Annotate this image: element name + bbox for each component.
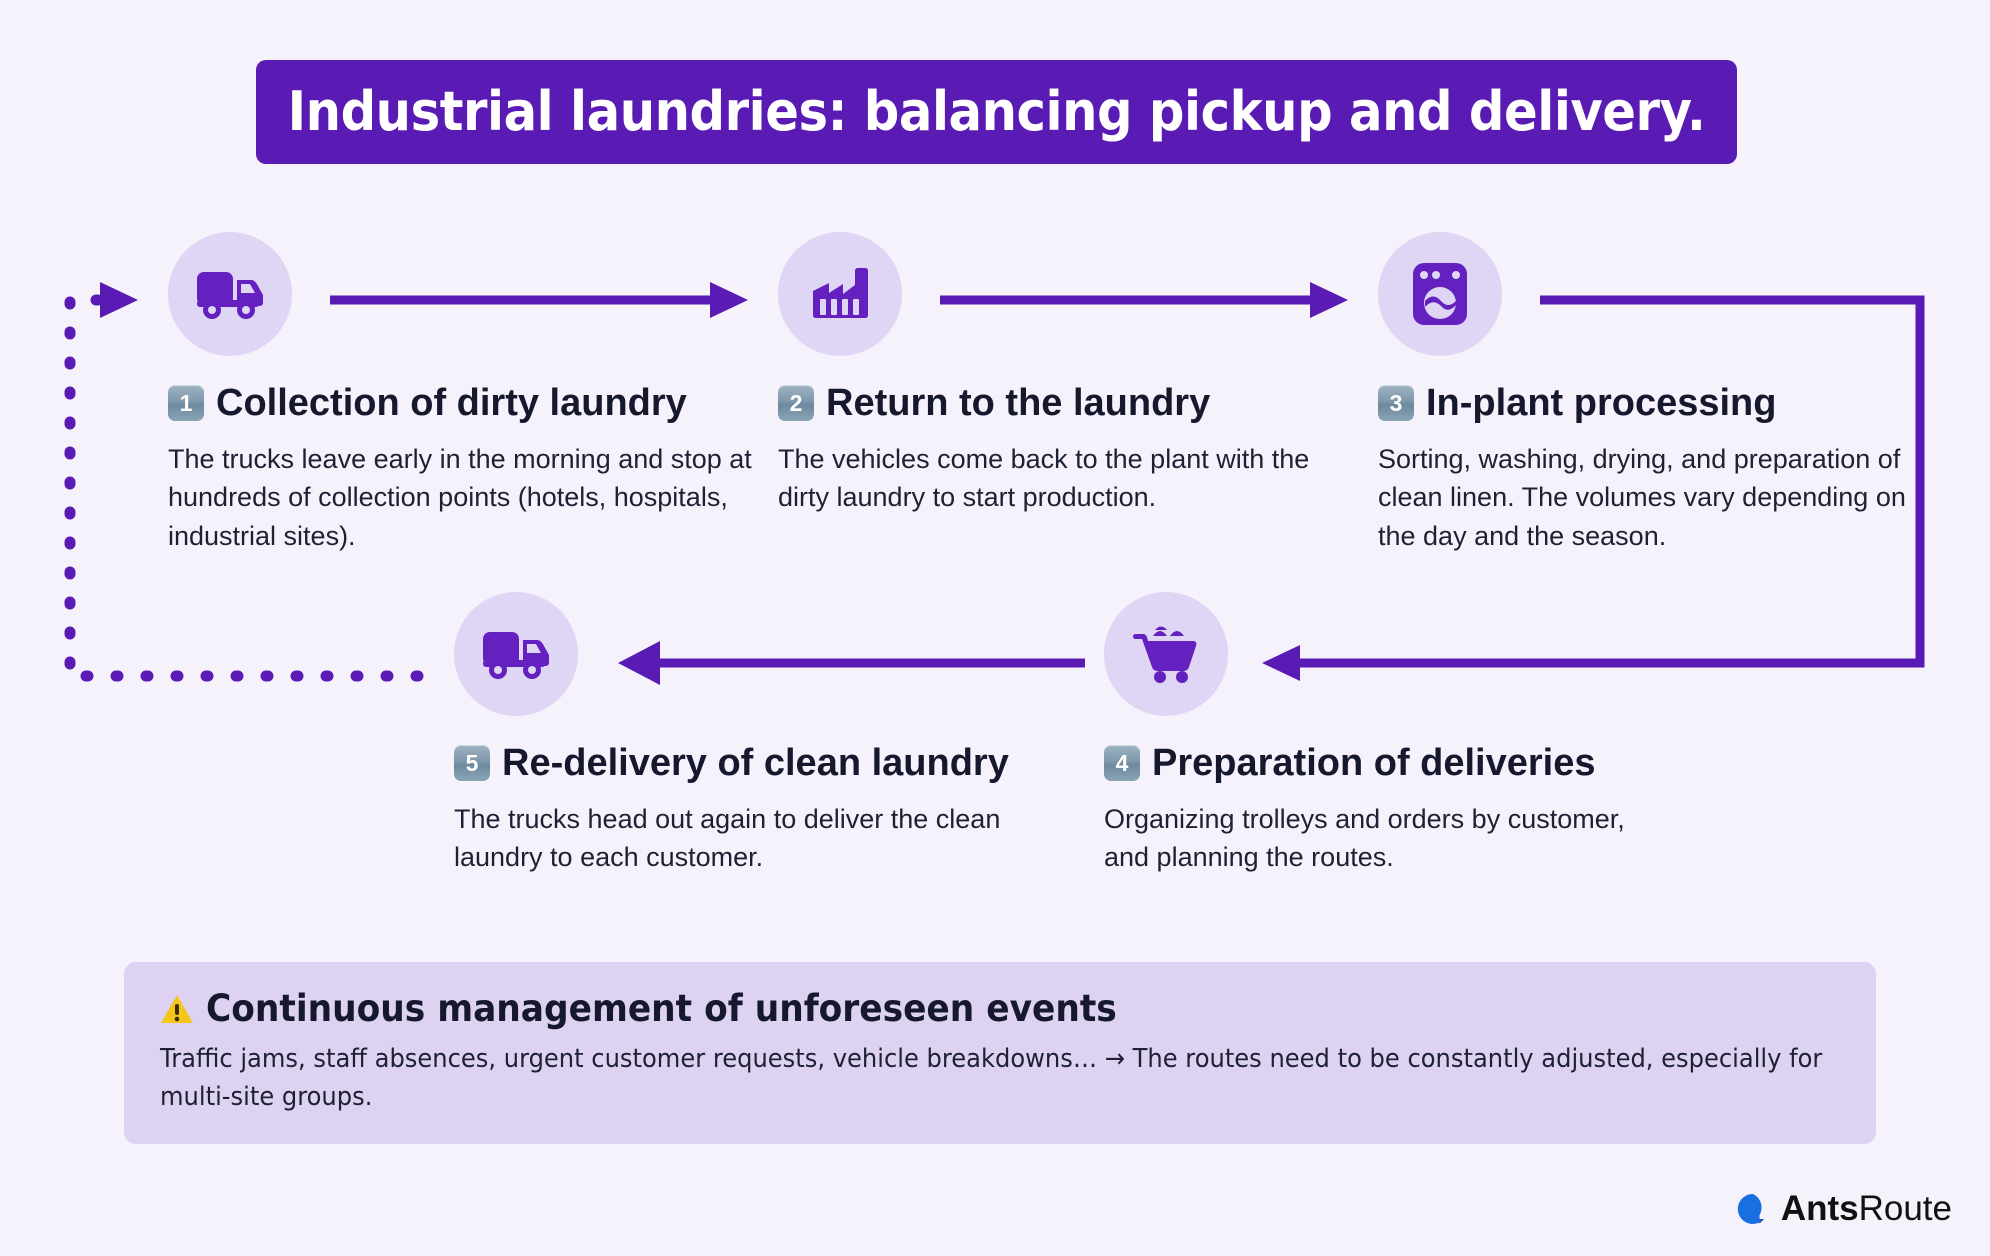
- keycap-number-4-icon: 4: [1104, 745, 1140, 781]
- step-1-body: The trucks leave early in the morning an…: [168, 440, 768, 555]
- factory-icon: [809, 263, 871, 325]
- flow-step-3: 3 In-plant processing Sorting, washing, …: [1378, 232, 1938, 555]
- step-5-heading: 5 Re-delivery of clean laundry: [454, 744, 1074, 782]
- step-3-heading: 3 In-plant processing: [1378, 384, 1938, 422]
- flow-step-1: 1 Collection of dirty laundry The trucks…: [168, 232, 768, 555]
- step-2-title: Return to the laundry: [826, 384, 1210, 422]
- shopping-cart-icon: [1133, 624, 1199, 684]
- alert-body: Traffic jams, staff absences, urgent cus…: [160, 1041, 1832, 1116]
- step-2-icon-container: [778, 232, 902, 356]
- step-5-title: Re-delivery of clean laundry: [502, 744, 1009, 782]
- step-2-body: The vehicles come back to the plant with…: [778, 440, 1338, 517]
- flow-step-4: 4 Preparation of deliveries Organizing t…: [1104, 592, 1664, 877]
- alert-heading: Continuous management of unforeseen even…: [160, 990, 1840, 1027]
- step-4-icon-container: [1104, 592, 1228, 716]
- alert-title: Continuous management of unforeseen even…: [206, 990, 1117, 1027]
- antsroute-logo: AntsRoute: [1736, 1191, 1952, 1226]
- alert-panel: Continuous management of unforeseen even…: [124, 962, 1876, 1144]
- step-5-body: The trucks head out again to deliver the…: [454, 800, 1074, 877]
- keycap-number-5-icon: 5: [454, 745, 490, 781]
- delivery-truck-icon: [481, 626, 551, 682]
- step-1-heading: 1 Collection of dirty laundry: [168, 384, 768, 422]
- step-4-heading: 4 Preparation of deliveries: [1104, 744, 1664, 782]
- washing-machine-icon: [1411, 261, 1469, 327]
- step-2-heading: 2 Return to the laundry: [778, 384, 1338, 422]
- delivery-truck-icon: [195, 266, 265, 322]
- logo-light-part: Route: [1859, 1189, 1952, 1228]
- flow-step-2: 2 Return to the laundry The vehicles com…: [778, 232, 1338, 517]
- keycap-number-1-icon: 1: [168, 385, 204, 421]
- flow-step-5: 5 Re-delivery of clean laundry The truck…: [454, 592, 1074, 877]
- page-title-banner: Industrial laundries: balancing pickup a…: [256, 60, 1737, 164]
- step-1-icon-container: [168, 232, 292, 356]
- step-3-title: In-plant processing: [1426, 384, 1776, 422]
- logo-bold-part: Ants: [1781, 1189, 1859, 1228]
- keycap-number-2-icon: 2: [778, 385, 814, 421]
- page-title: Industrial laundries: balancing pickup a…: [288, 85, 1706, 139]
- antsroute-wordmark: AntsRoute: [1781, 1191, 1952, 1226]
- step-1-title: Collection of dirty laundry: [216, 384, 687, 422]
- step-5-icon-container: [454, 592, 578, 716]
- step-4-title: Preparation of deliveries: [1152, 744, 1596, 782]
- antsroute-mark-icon: [1736, 1192, 1770, 1226]
- step-4-body: Organizing trolleys and orders by custom…: [1104, 800, 1664, 877]
- step-3-icon-container: [1378, 232, 1502, 356]
- step-3-body: Sorting, washing, drying, and preparatio…: [1378, 440, 1938, 555]
- warning-triangle-icon: [160, 993, 194, 1025]
- keycap-number-3-icon: 3: [1378, 385, 1414, 421]
